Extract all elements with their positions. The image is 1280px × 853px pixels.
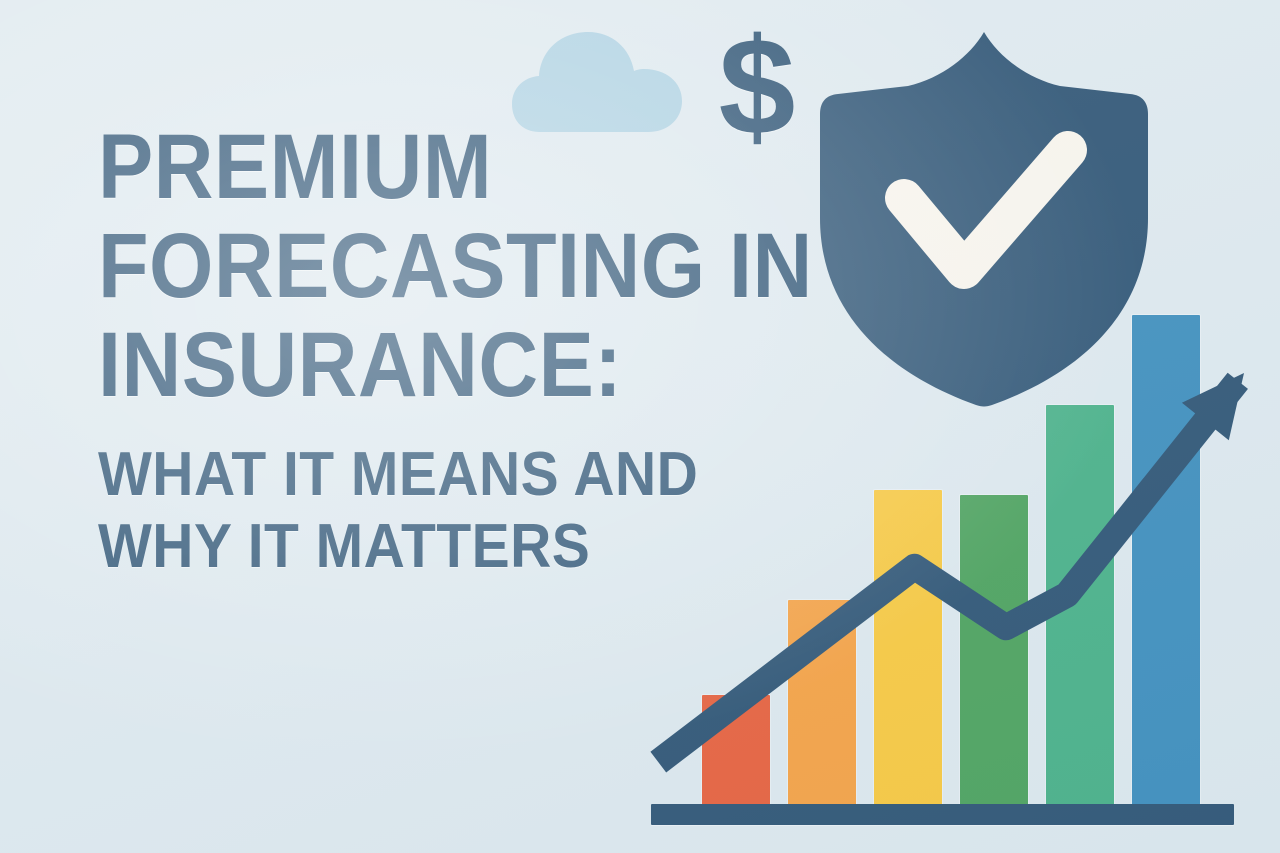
poster-canvas: PREMIUM FORECASTING IN INSURANCE: WHAT I… [0, 0, 1280, 853]
cloud-icon [510, 28, 686, 134]
trend-path [658, 381, 1238, 762]
bar-chart [640, 280, 1250, 825]
title-line-3: INSURANCE: [98, 316, 728, 415]
title-line-2: FORECASTING IN [98, 217, 728, 316]
dollar-sign-icon: $ [712, 18, 802, 158]
upward-trend-arrow-icon [640, 280, 1250, 825]
